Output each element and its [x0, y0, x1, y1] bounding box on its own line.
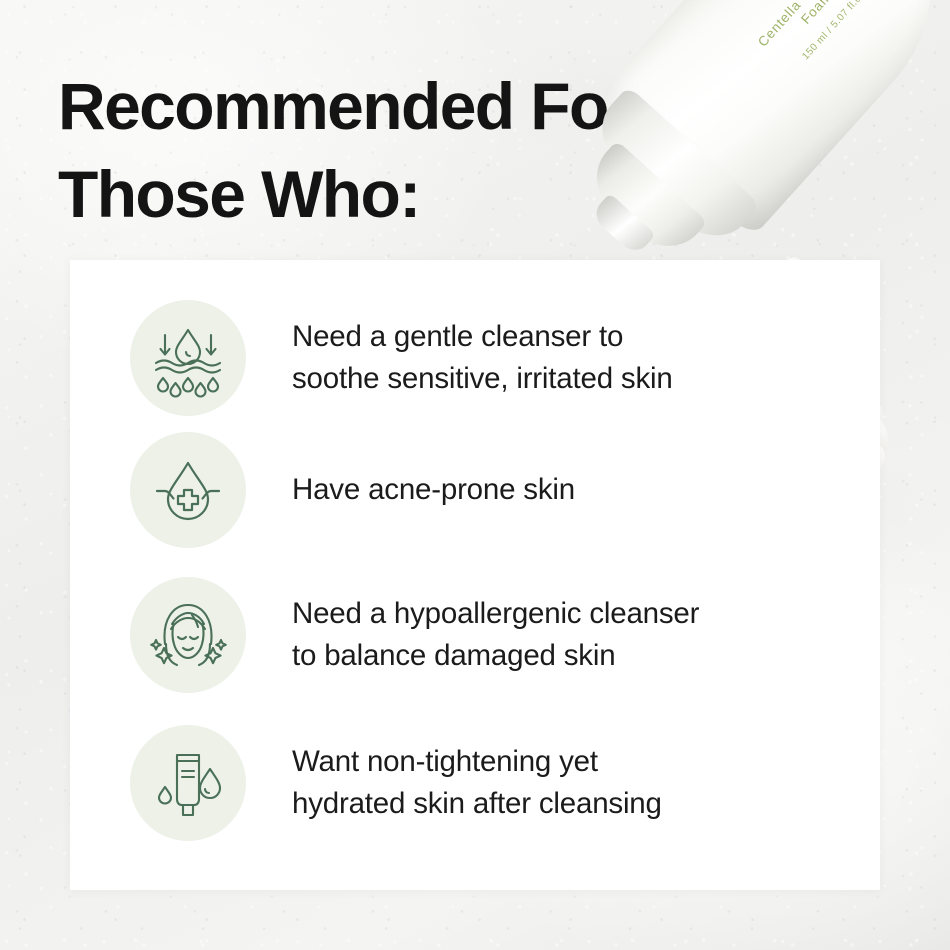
promo-graphic: Recommended For Those Who: Centella Clea… — [0, 0, 950, 950]
list-item: Want non-tightening yet hydrated skin af… — [130, 725, 662, 841]
skin-hydration-absorption-icon — [148, 318, 228, 398]
icon-badge — [130, 725, 246, 841]
icon-badge — [130, 300, 246, 416]
list-item: Have acne-prone skin — [130, 432, 575, 548]
droplet-medical-cross-icon — [148, 450, 228, 530]
list-item-label: Have acne-prone skin — [292, 469, 575, 511]
icon-badge — [130, 432, 246, 548]
woman-face-sparkle-icon — [147, 594, 229, 676]
page-title: Recommended For Those Who: — [58, 62, 718, 238]
benefits-card: Need a gentle cleanser to soothe sensiti… — [70, 260, 880, 890]
list-item: Need a hypoallergenic cleanser to balanc… — [130, 577, 699, 693]
cosmetic-tube-droplets-icon — [148, 743, 228, 823]
list-item-label: Need a hypoallergenic cleanser to balanc… — [292, 593, 699, 677]
list-item-label: Want non-tightening yet hydrated skin af… — [292, 741, 662, 825]
list-item-label: Need a gentle cleanser to soothe sensiti… — [292, 316, 673, 400]
icon-badge — [130, 577, 246, 693]
list-item: Need a gentle cleanser to soothe sensiti… — [130, 300, 673, 416]
